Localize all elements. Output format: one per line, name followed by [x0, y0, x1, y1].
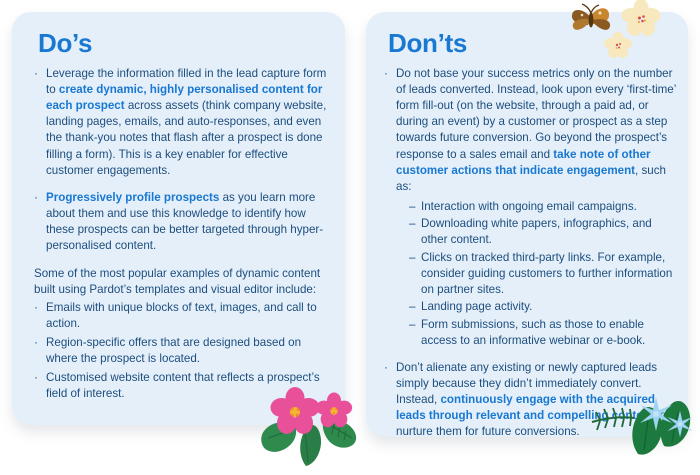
dos-sub-item-text: Customised website content that reflects… — [46, 371, 320, 400]
donts-dash-item-text: Landing page activity. — [421, 300, 532, 313]
leaf-cluster-icon — [261, 419, 356, 466]
dos-sub-item: · Customised website content that reflec… — [34, 370, 331, 402]
donts-dash-list: – Interaction with ongoing email campaig… — [396, 199, 676, 349]
donts-dash-item: – Landing page activity. — [409, 299, 676, 315]
dos-sub-list: · Emails with unique blocks of text, ima… — [34, 300, 331, 402]
dos-panel: Do’s · Leverage the information filled i… — [12, 12, 345, 425]
donts-dash-item: – Form submissions, such as those to ena… — [409, 317, 676, 349]
donts-panel: Don’ts · Do not base your success metric… — [366, 12, 688, 437]
highlight-segment: Progressively profile prospects — [46, 191, 219, 204]
dos-bullet-item-1: · Leverage the information filled in the… — [34, 66, 331, 178]
bullet-dot-icon: · — [384, 360, 388, 376]
donts-heading: Don’ts — [388, 30, 676, 57]
dash-icon: – — [409, 317, 415, 333]
dos-bullet-list: · Leverage the information filled in the… — [34, 66, 331, 254]
dos-bullet-item-2: · Progressively profile prospects as you… — [34, 190, 331, 254]
text-segment: Do not base your success metrics only on… — [396, 67, 676, 160]
dos-intro-paragraph: Some of the most popular examples of dyn… — [34, 266, 331, 298]
donts-body: · Do not base your success metrics only … — [384, 66, 676, 440]
dos-sub-item-text: Emails with unique blocks of text, image… — [46, 301, 317, 330]
donts-dash-item-text: Downloading white papers, infographics, … — [421, 217, 652, 246]
dos-sub-item: · Region-specific offers that are design… — [34, 335, 331, 367]
dash-icon: – — [409, 299, 415, 315]
dos-sub-item: · Emails with unique blocks of text, ima… — [34, 300, 331, 332]
dos-heading: Do’s — [38, 30, 331, 57]
donts-bullet-item-2: · Don’t alienate any existing or newly c… — [384, 360, 676, 440]
dos-sub-item-text: Region-specific offers that are designed… — [46, 336, 301, 365]
donts-dash-item-text: Form submissions, such as those to enabl… — [421, 318, 645, 347]
donts-bullet-item-1: · Do not base your success metrics only … — [384, 66, 676, 349]
bullet-dot-icon: · — [34, 335, 38, 351]
donts-dash-item-text: Interaction with ongoing email campaigns… — [421, 200, 637, 213]
dash-icon: – — [409, 250, 415, 266]
bullet-dot-icon: · — [34, 300, 38, 316]
dash-icon: – — [409, 199, 415, 215]
bullet-dot-icon: · — [384, 66, 388, 82]
bullet-dot-icon: · — [34, 370, 38, 386]
dos-bullet-item-2-text: Progressively profile prospects as you l… — [46, 191, 323, 252]
dos-body: · Leverage the information filled in the… — [34, 66, 331, 402]
donts-bullet-list: · Do not base your success metrics only … — [384, 66, 676, 440]
donts-dash-item-text: Clicks on tracked third-party links. For… — [421, 251, 672, 296]
donts-bullet-item-2-text: Don’t alienate any existing or newly cap… — [396, 361, 667, 438]
bullet-dot-icon: · — [34, 190, 38, 206]
dos-bullet-item-1-text: Leverage the information filled in the l… — [46, 67, 326, 176]
donts-dash-item: – Interaction with ongoing email campaig… — [409, 199, 676, 215]
donts-dash-item: – Clicks on tracked third-party links. F… — [409, 250, 676, 298]
donts-dash-item: – Downloading white papers, infographics… — [409, 216, 676, 248]
infographic-board: Do’s · Leverage the information filled i… — [0, 0, 700, 470]
dash-icon: – — [409, 216, 415, 232]
donts-bullet-item-1-text: Do not base your success metrics only on… — [396, 67, 676, 192]
bullet-dot-icon: · — [34, 66, 38, 82]
